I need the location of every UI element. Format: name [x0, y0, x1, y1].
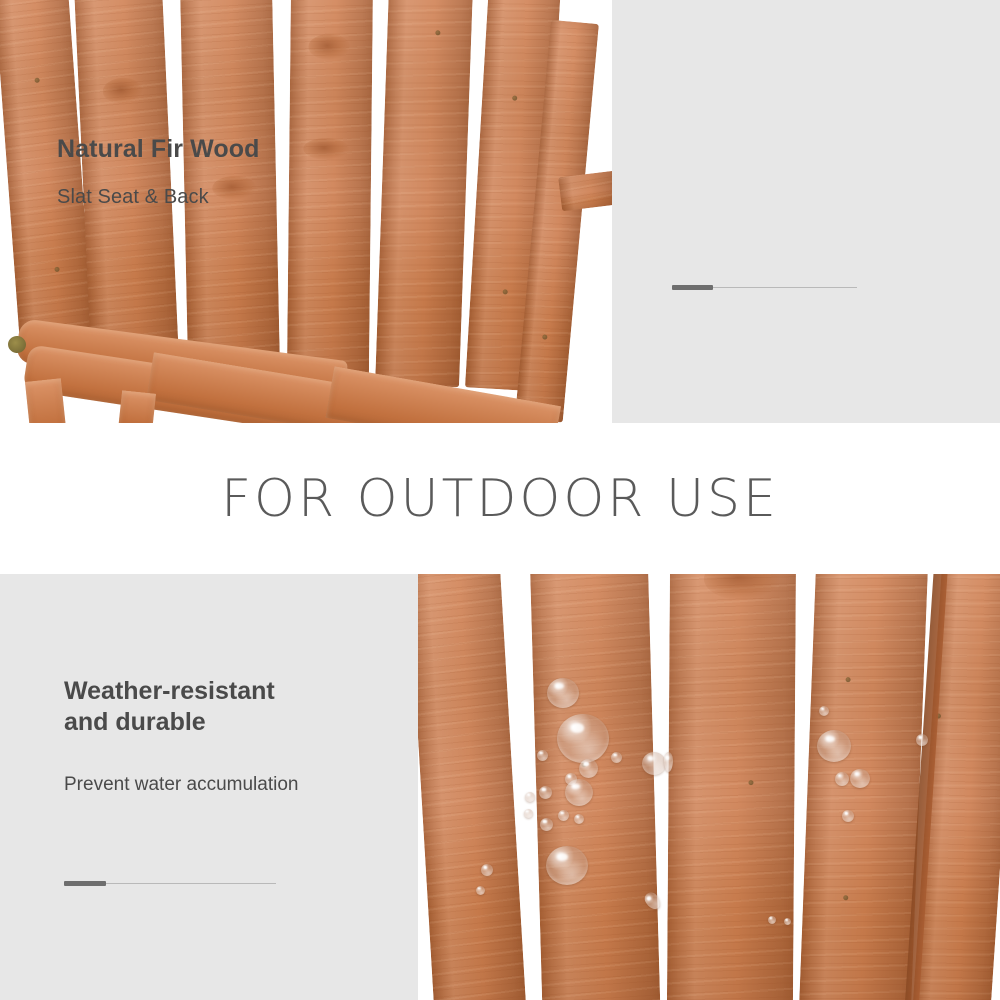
infographic-canvas: Natural Fir Wood Slat Seat & Back FOR OU… — [0, 0, 1000, 1000]
bottom-feature-title-line2: and durable — [64, 708, 206, 736]
top-progress-bar — [672, 285, 857, 290]
bottom-feature-subtitle: Prevent water accumulation — [64, 774, 404, 796]
bottom-product-photo — [418, 574, 1000, 1000]
bottom-progress-fill — [64, 881, 106, 886]
bottom-feature-title: Weather-resistant and durable — [64, 676, 394, 738]
top-info-panel — [612, 0, 1000, 423]
top-feature-subtitle: Slat Seat & Back — [57, 186, 209, 209]
center-headline: FOR OUTDOOR USE — [0, 423, 1000, 574]
top-product-photo — [0, 0, 612, 423]
bottom-feature-title-line1: Weather-resistant — [64, 677, 275, 705]
bottom-progress-bar — [64, 881, 276, 886]
top-feature-title: Natural Fir Wood — [57, 135, 260, 164]
top-progress-fill — [672, 285, 713, 290]
